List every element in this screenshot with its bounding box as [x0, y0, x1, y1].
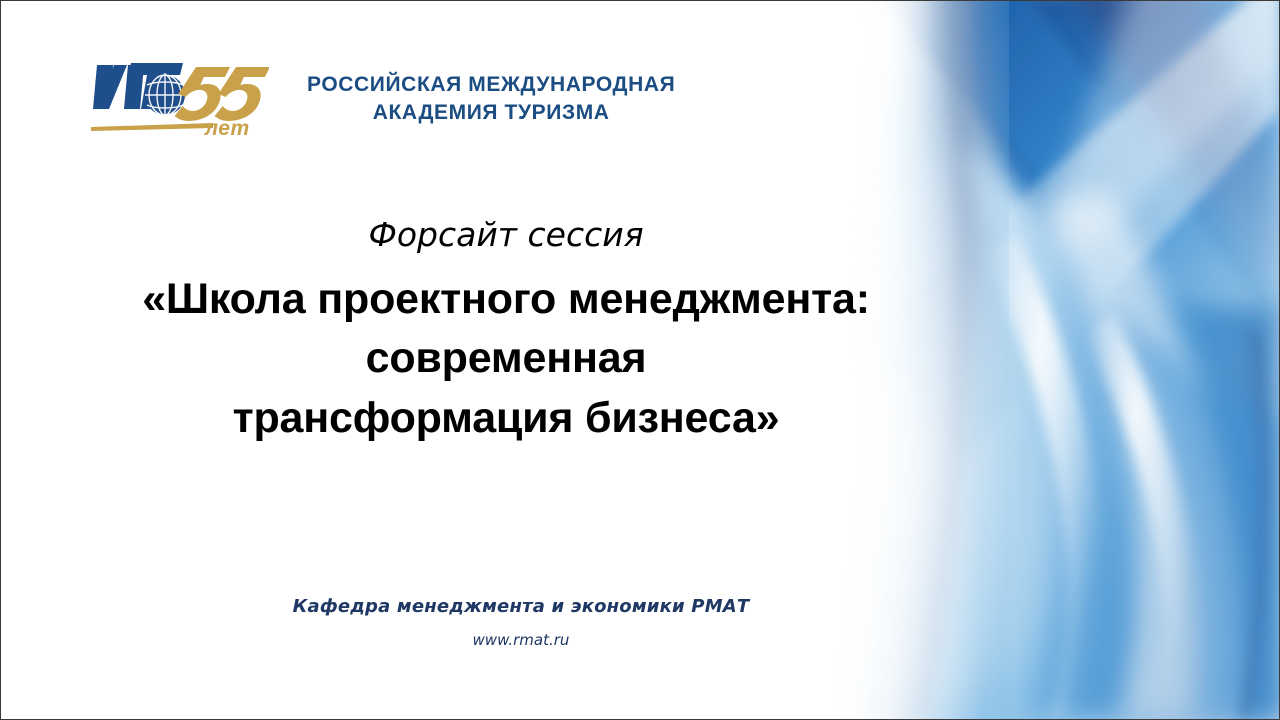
page-title: «Школа проектного менеджмента: современн…: [1, 270, 1011, 448]
slide-header: лет РОССИЙСКАЯ МЕЖДУНАРОДНАЯ АКАДЕМИЯ ТУ…: [87, 53, 675, 145]
presentation-slide: лет РОССИЙСКАЯ МЕЖДУНАРОДНАЯ АКАДЕМИЯ ТУ…: [0, 0, 1280, 720]
website-url: www.rmat.ru: [1, 631, 1041, 649]
rmat-logo: лет: [87, 53, 269, 145]
svg-text:лет: лет: [204, 117, 250, 140]
title-line-2: современная: [1, 329, 1011, 388]
title-line-1: «Школа проектного менеджмента:: [1, 270, 1011, 329]
academy-name: РОССИЙСКАЯ МЕЖДУНАРОДНАЯ АКАДЕМИЯ ТУРИЗМ…: [307, 71, 675, 126]
title-block: Форсайт сессия «Школа проектного менеджм…: [1, 216, 1011, 448]
department-name: Кафедра менеджмента и экономики РМАТ: [1, 596, 1041, 617]
title-line-3: трансформация бизнеса»: [1, 389, 1011, 448]
slide-footer: Кафедра менеджмента и экономики РМАТ www…: [1, 596, 1041, 649]
event-kicker: Форсайт сессия: [1, 216, 1011, 254]
